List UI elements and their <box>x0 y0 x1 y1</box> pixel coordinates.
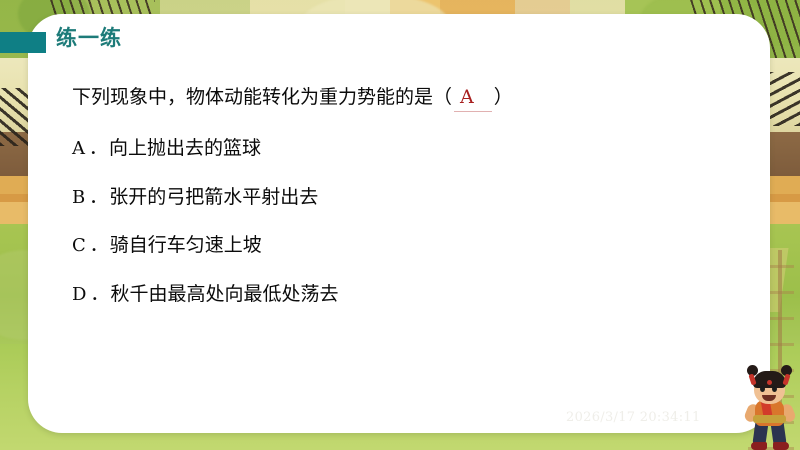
mascot-sash <box>753 415 786 423</box>
timestamp-watermark: 2026/3/17 20:34:11 <box>566 410 701 425</box>
question-stem: 下列现象中，物体动能转化为重力势能的是 <box>72 86 433 110</box>
mascot-shoe-left <box>751 442 767 450</box>
page-title: 练一练 <box>56 28 122 49</box>
option-b-letter: B <box>72 187 86 210</box>
option-d[interactable]: D ． 秋千由最高处向最低处荡去 <box>72 283 740 307</box>
open-paren: （ <box>433 86 452 110</box>
mascot-eye-right <box>772 386 777 392</box>
option-b-dot: ． <box>86 187 109 210</box>
mascot-character-icon <box>742 360 798 450</box>
slide-canvas: 练一练 下列现象中，物体动能转化为重力势能的是 （ A ） A ． 向上抛出去的… <box>0 0 800 450</box>
option-d-letter: D <box>72 284 87 307</box>
option-c-letter: C <box>72 235 87 258</box>
answer-blank: A <box>454 86 492 112</box>
option-c[interactable]: C ． 骑自行车匀速上坡 <box>72 234 740 258</box>
option-d-text: 秋千由最高处向最低处荡去 <box>110 283 338 307</box>
option-a-dot: ． <box>86 138 109 161</box>
option-a[interactable]: A ． 向上抛出去的篮球 <box>72 137 740 161</box>
mascot-eye-left <box>760 386 765 392</box>
option-a-letter: A <box>72 138 86 161</box>
option-b-text: 张开的弓把箭水平射出去 <box>109 186 318 210</box>
mascot-shoe-right <box>773 442 789 450</box>
question-body: 下列现象中，物体动能转化为重力势能的是 （ A ） A ． 向上抛出去的篮球 B… <box>72 86 740 307</box>
option-b[interactable]: B ． 张开的弓把箭水平射出去 <box>72 186 740 210</box>
close-paren: ） <box>494 86 513 110</box>
question-stem-line: 下列现象中，物体动能转化为重力势能的是 （ A ） <box>72 86 740 112</box>
option-a-text: 向上抛出去的篮球 <box>109 137 261 161</box>
option-c-text: 骑自行车匀速上坡 <box>110 234 262 258</box>
option-c-dot: ． <box>87 235 110 258</box>
option-d-dot: ． <box>87 284 110 307</box>
heading-badge <box>0 32 46 53</box>
mascot-forehead-dot <box>767 380 772 385</box>
